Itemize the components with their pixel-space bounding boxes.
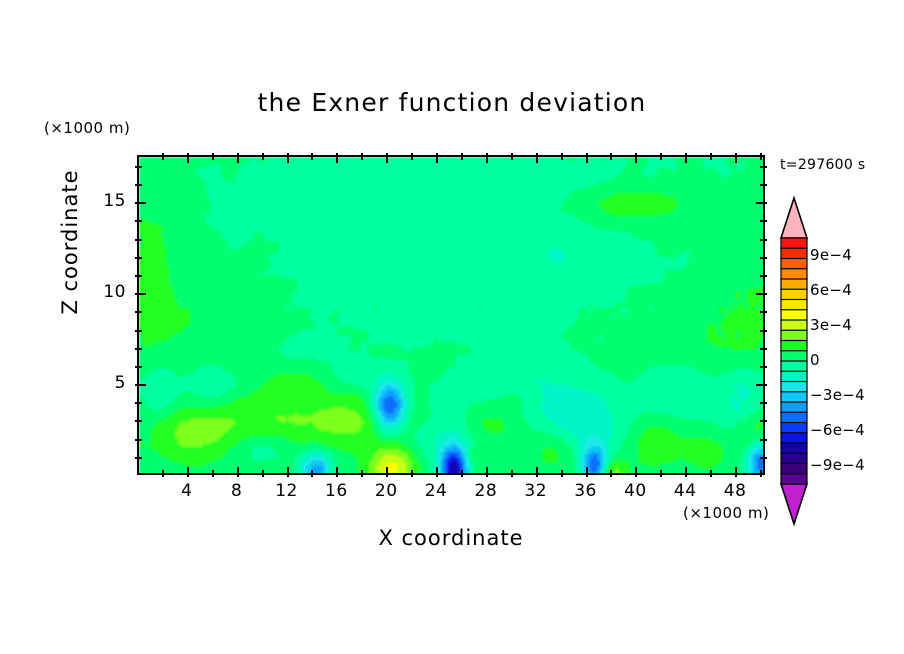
x-axis-title: X coordinate: [137, 526, 765, 550]
colorbar-label: 3e−4: [810, 316, 852, 334]
colorbar-band: [781, 330, 807, 341]
colorbar-swatches: [778, 196, 810, 526]
colorbar-band: [781, 289, 807, 300]
colorbar-band: [781, 443, 807, 454]
colorbar-band: [781, 464, 807, 475]
x-tick-label: 28: [466, 481, 506, 501]
colorbar-label: 0: [810, 351, 820, 369]
y-tick-label: 15: [96, 191, 126, 211]
x-tick-label: 12: [267, 481, 307, 501]
colorbar-band: [781, 433, 807, 444]
colorbar-band: [781, 382, 807, 393]
colorbar-band: [781, 474, 807, 485]
x-tick-label: 20: [366, 481, 406, 501]
colorbar-label: −9e−4: [810, 456, 865, 474]
x-axis-units-label: (×1000 m): [683, 504, 769, 522]
time-annotation: t=297600 s: [780, 157, 865, 173]
x-tick-label: 16: [316, 481, 356, 501]
y-tick-label: 10: [96, 282, 126, 302]
colorbar-band: [781, 412, 807, 423]
x-tick-label: 4: [167, 481, 207, 501]
colorbar-tick-labels: 9e−46e−43e−40−3e−4−6e−4−9e−4: [810, 196, 900, 526]
colorbar-label: −6e−4: [810, 421, 865, 439]
colorbar-band: [781, 238, 807, 249]
colorbar-band: [781, 269, 807, 280]
colorbar-band: [781, 402, 807, 413]
figure-canvas: the Exner function deviation (×1000 m) Z…: [0, 0, 904, 654]
colorbar-band: [781, 423, 807, 434]
colorbar-band: [781, 310, 807, 321]
colorbar-label: 6e−4: [810, 281, 852, 299]
colorbar-band: [781, 392, 807, 403]
colorbar-over-arrow: [781, 198, 807, 238]
x-tick-label: 24: [416, 481, 456, 501]
colorbar-under-arrow: [781, 484, 807, 524]
colorbar: [778, 196, 810, 526]
colorbar-band: [781, 361, 807, 372]
y-axis-title: Z coordinate: [58, 132, 82, 352]
x-tick-label: 40: [615, 481, 655, 501]
y-tick-label: 5: [96, 373, 126, 393]
page-title: the Exner function deviation: [0, 88, 904, 117]
colorbar-band: [781, 259, 807, 270]
x-tick-label: 8: [217, 481, 257, 501]
x-tick-label: 48: [715, 481, 755, 501]
contour-field: [139, 157, 765, 475]
colorbar-label: −3e−4: [810, 386, 865, 404]
colorbar-band: [781, 279, 807, 290]
x-tick-label: 32: [516, 481, 556, 501]
z-axis-units-label: (×1000 m): [44, 119, 130, 137]
colorbar-label: 9e−4: [810, 246, 852, 264]
colorbar-band: [781, 248, 807, 259]
colorbar-band: [781, 300, 807, 311]
x-tick-label: 44: [665, 481, 705, 501]
colorbar-band: [781, 341, 807, 352]
x-tick-label: 36: [566, 481, 606, 501]
colorbar-band: [781, 453, 807, 464]
colorbar-band: [781, 351, 807, 362]
colorbar-band: [781, 320, 807, 331]
colorbar-band: [781, 371, 807, 382]
contour-plot-area: [137, 155, 765, 475]
